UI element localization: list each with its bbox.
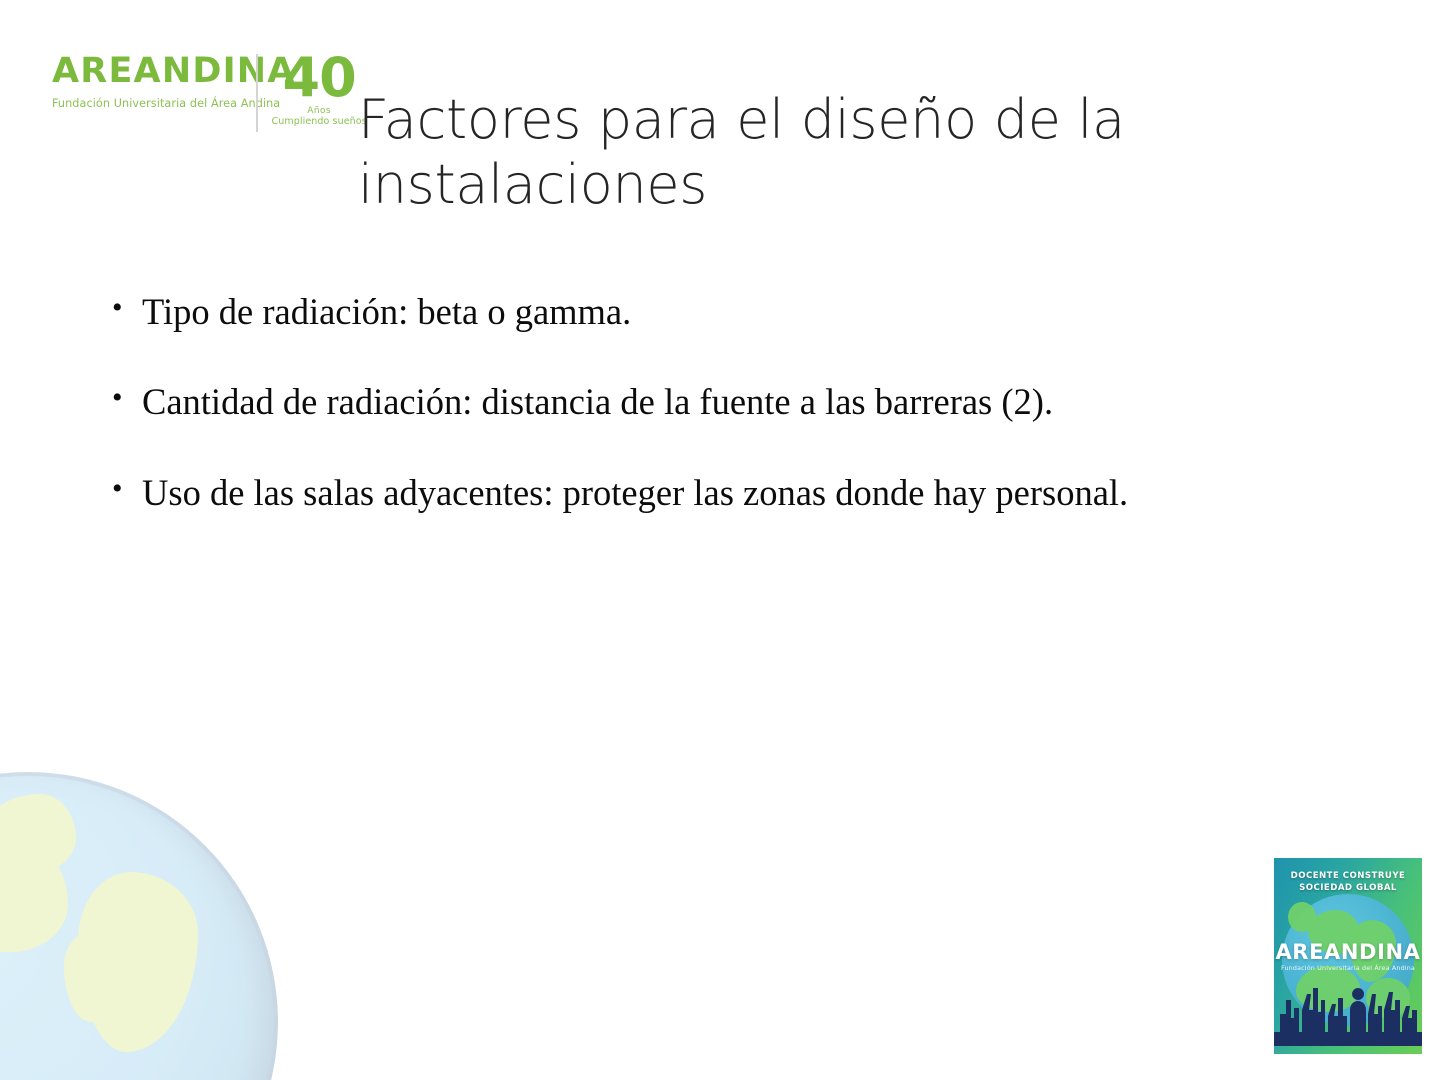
bullet-item: Cantidad de radiación: distancia de la f…	[112, 378, 1312, 425]
slide-title-line-1: Factores para el diseño de la	[358, 88, 1188, 153]
bullet-item: Tipo de radiación: beta o gamma.	[112, 288, 1312, 335]
logo-divider	[256, 54, 258, 132]
globe-landmass	[78, 872, 198, 1052]
presentation-slide: AREANDINA Fundación Universitaria del Ár…	[0, 0, 1440, 1080]
campaign-badge: DOCENTE CONSTRUYE SOCIEDAD GLOBAL AREAND…	[1274, 858, 1422, 1054]
anniversary-slogan: Cumpliendo sueños	[272, 116, 367, 127]
slide-title: Factores para el diseño de la instalacio…	[358, 88, 1188, 218]
bullet-item: Uso de las salas adyacentes: proteger la…	[112, 469, 1312, 516]
badge-heading-line-2: SOCIEDAD GLOBAL	[1274, 882, 1422, 894]
slide-bullet-list: Tipo de radiación: beta o gamma. Cantida…	[112, 288, 1312, 516]
anniversary-lockup: 40 Años Cumpliendo sueños	[272, 52, 367, 127]
brand-wordmark: AREANDINA	[52, 54, 248, 89]
globe-ocean	[0, 772, 278, 1080]
areandina-logo: AREANDINA Fundación Universitaria del Ár…	[52, 52, 342, 136]
anniversary-number: 40	[272, 52, 367, 104]
globe-landmass	[0, 832, 68, 952]
globe-rim	[0, 772, 278, 1080]
crowd-silhouette-icon	[1274, 970, 1422, 1046]
brand-primary-lockup: AREANDINA Fundación Universitaria del Ár…	[52, 52, 248, 110]
globe-landmass	[64, 932, 116, 1022]
badge-heading: DOCENTE CONSTRUYE SOCIEDAD GLOBAL	[1274, 870, 1422, 895]
slide-title-line-2: instalaciones	[358, 153, 1188, 218]
globe-watermark-graphic	[0, 772, 278, 1080]
brand-tagline: Fundación Universitaria del Área Andina	[52, 97, 248, 110]
badge-globe-landmass	[1288, 902, 1316, 932]
globe-landmass	[0, 794, 76, 874]
badge-heading-line-1: DOCENTE CONSTRUYE	[1274, 870, 1422, 882]
badge-wordmark: AREANDINA	[1274, 940, 1422, 964]
